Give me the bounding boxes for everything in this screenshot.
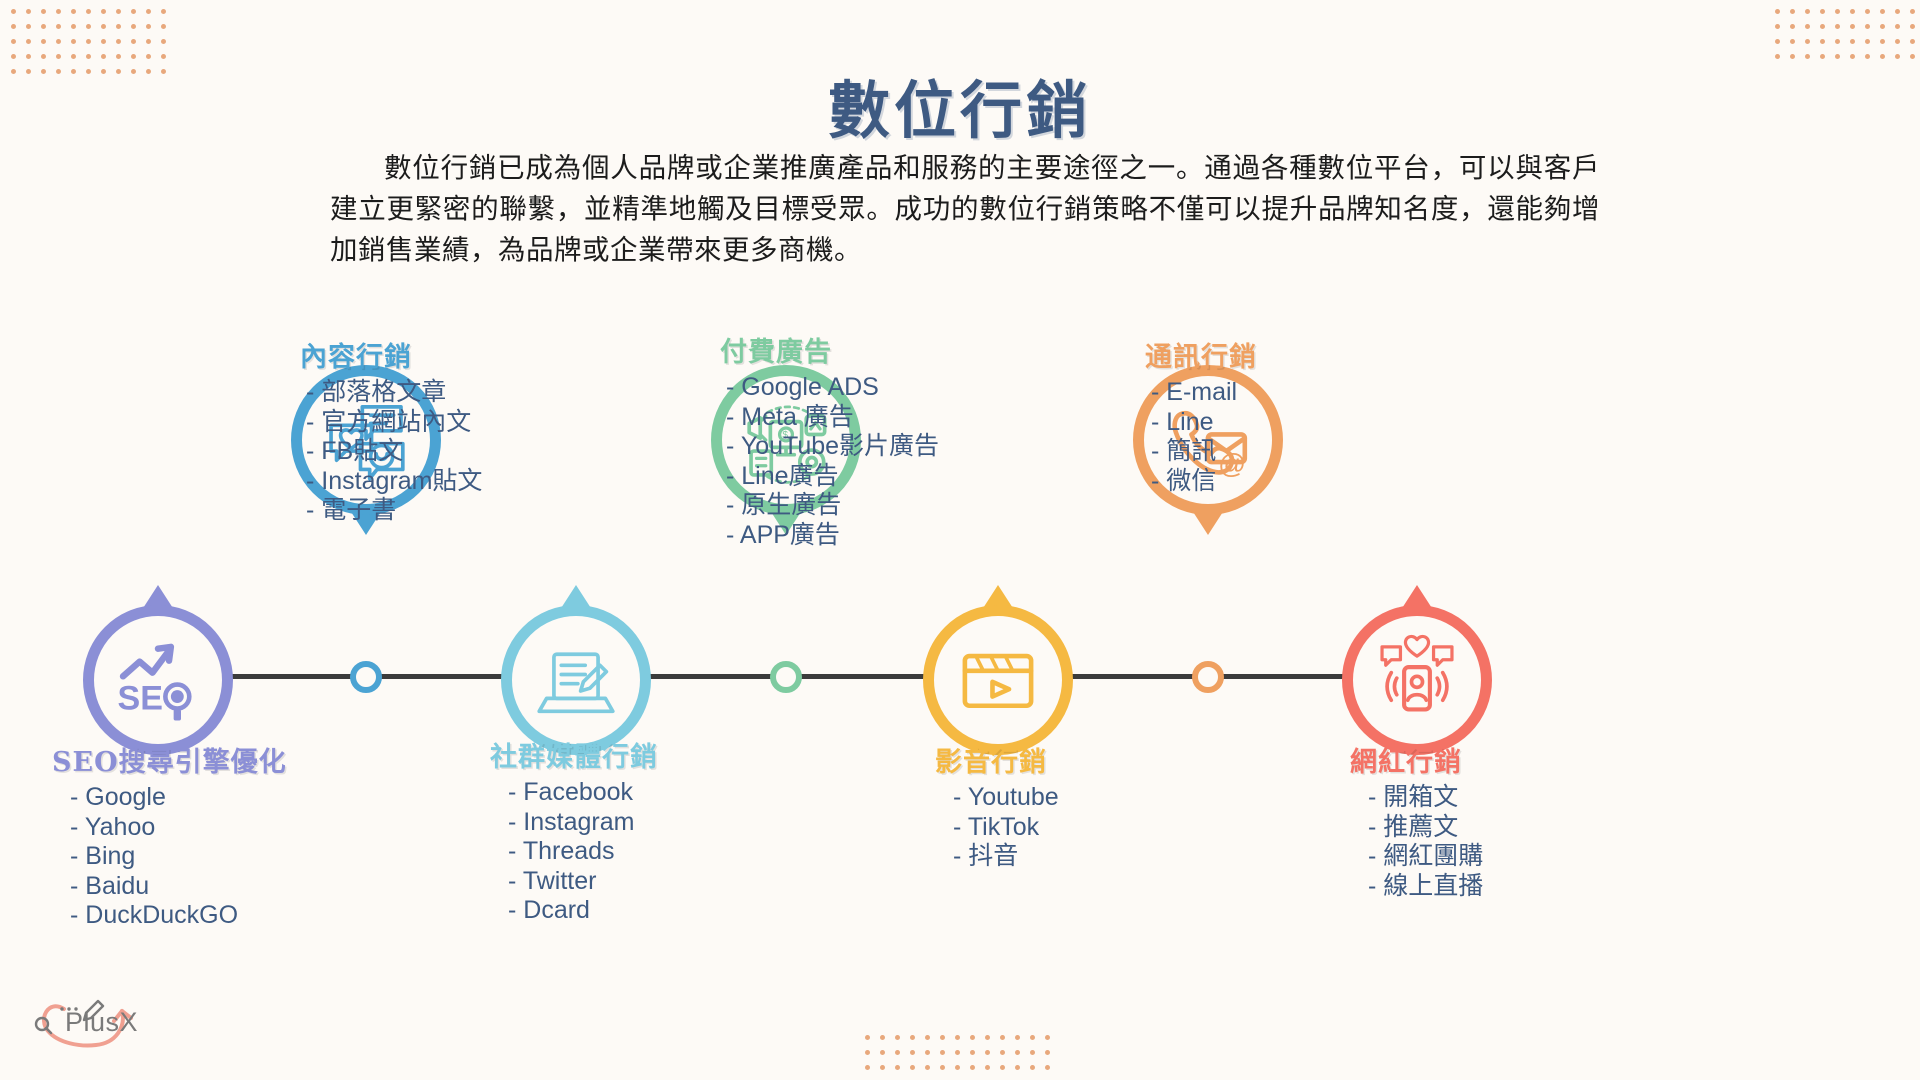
decorative-dot bbox=[1865, 39, 1870, 44]
decorative-dot bbox=[1850, 9, 1855, 14]
decorative-dot bbox=[1805, 39, 1810, 44]
decorative-dot bbox=[1865, 54, 1870, 59]
decorative-dot bbox=[116, 9, 121, 14]
decorative-dot bbox=[101, 54, 106, 59]
decorative-dot bbox=[955, 1065, 960, 1070]
decorative-dot bbox=[1775, 39, 1780, 44]
pin-seo[interactable]: SE bbox=[83, 605, 233, 755]
decorative-dot bbox=[970, 1050, 975, 1055]
video-player-icon bbox=[923, 605, 1073, 755]
list-item: - Youtube bbox=[953, 783, 1235, 813]
decorative-dot bbox=[26, 39, 31, 44]
decorative-dot bbox=[1015, 1050, 1020, 1055]
list-item: - Google ADS bbox=[726, 373, 1020, 403]
section-title-content-marketing: 內容行銷 bbox=[300, 335, 600, 374]
decorative-dot bbox=[1805, 24, 1810, 29]
decorative-dot bbox=[1045, 1050, 1050, 1055]
section-list-video-marketing: - Youtube- TikTok- 抖音 bbox=[935, 783, 1235, 872]
decorative-dot bbox=[985, 1050, 990, 1055]
decorative-dot bbox=[131, 9, 136, 14]
decorative-dot bbox=[1835, 54, 1840, 59]
timeline-node-paid-ads[interactable] bbox=[770, 661, 802, 693]
decorative-dot bbox=[895, 1065, 900, 1070]
decorative-dot bbox=[1910, 24, 1915, 29]
decorative-dot bbox=[131, 54, 136, 59]
decorative-dot bbox=[86, 24, 91, 29]
list-item: - Dcard bbox=[508, 896, 790, 926]
decorative-dot bbox=[41, 24, 46, 29]
list-item: - 簡訊 bbox=[1151, 437, 1445, 467]
decorative-dot bbox=[955, 1050, 960, 1055]
list-item: - Baidu bbox=[70, 872, 352, 902]
infographic-canvas: 數位行銷 數位行銷已成為個人品牌或企業推廣產品和服務的主要途徑之一。通過各種數位… bbox=[0, 0, 1920, 1080]
decorative-dot bbox=[56, 39, 61, 44]
section-list-seo: - Google- Yahoo- Bing- Baidu- DuckDuckGO bbox=[52, 783, 352, 931]
laptop-document-icon bbox=[501, 605, 651, 755]
decorative-dot bbox=[161, 9, 166, 14]
decorative-dot bbox=[71, 9, 76, 14]
decorative-dot bbox=[146, 39, 151, 44]
decorative-dot bbox=[11, 39, 16, 44]
decorative-dot bbox=[1850, 39, 1855, 44]
decorative-dot bbox=[146, 9, 151, 14]
decorative-dot bbox=[1820, 39, 1825, 44]
decorative-dot bbox=[1820, 9, 1825, 14]
decorative-dot bbox=[1910, 54, 1915, 59]
list-item: - Meta 廣告 bbox=[726, 403, 1020, 433]
decorative-dot bbox=[161, 54, 166, 59]
decorative-dot bbox=[26, 9, 31, 14]
list-item: - Instagram bbox=[508, 808, 790, 838]
decorative-dot bbox=[1895, 9, 1900, 14]
decorative-dot bbox=[71, 39, 76, 44]
decorative-dot bbox=[1805, 9, 1810, 14]
decorative-dot bbox=[1910, 39, 1915, 44]
decorative-dot bbox=[86, 39, 91, 44]
decorative-dot bbox=[940, 1050, 945, 1055]
decorative-dot bbox=[895, 1050, 900, 1055]
decorative-dot bbox=[880, 1050, 885, 1055]
pin-social-media-marketing[interactable] bbox=[501, 605, 651, 755]
decorative-dot bbox=[1775, 9, 1780, 14]
decorative-dot bbox=[56, 24, 61, 29]
decorative-dot bbox=[101, 9, 106, 14]
decorative-dot bbox=[1865, 9, 1870, 14]
decorative-dot bbox=[56, 54, 61, 59]
decorative-dot bbox=[11, 24, 16, 29]
pin-video-marketing[interactable] bbox=[923, 605, 1073, 755]
logo-text: PlusX bbox=[65, 1007, 138, 1038]
decorative-dot bbox=[985, 1035, 990, 1040]
decorative-dot bbox=[101, 24, 106, 29]
decorative-dot bbox=[985, 1065, 990, 1070]
decorative-dot bbox=[940, 1065, 945, 1070]
decorative-dot bbox=[1030, 1035, 1035, 1040]
decorative-dot bbox=[940, 1035, 945, 1040]
section-list-paid-ads: - Google ADS- Meta 廣告- YouTube影片廣告- Line… bbox=[720, 373, 1020, 550]
decorative-dot bbox=[1045, 1035, 1050, 1040]
decorative-dot bbox=[116, 54, 121, 59]
section-block-seo: SEO搜尋引擎優化- Google- Yahoo- Bing- Baidu- D… bbox=[52, 740, 352, 931]
decorative-dot bbox=[1790, 9, 1795, 14]
section-title-messaging-marketing: 通訊行銷 bbox=[1145, 335, 1445, 374]
list-item: - Instagram貼文 bbox=[306, 467, 600, 497]
list-item: - Line bbox=[1151, 408, 1445, 438]
list-item: - YouTube影片廣告 bbox=[726, 432, 1020, 462]
section-title-paid-ads: 付費廣告 bbox=[720, 330, 1020, 369]
decorative-dot bbox=[56, 9, 61, 14]
decorative-dot bbox=[161, 39, 166, 44]
section-block-social-media-marketing: 社群媒體行銷- Facebook- Instagram- Threads- Tw… bbox=[490, 735, 790, 926]
list-item: - FB貼文 bbox=[306, 437, 600, 467]
seo-trend-icon: SE bbox=[83, 605, 233, 755]
decorative-dot bbox=[1000, 1035, 1005, 1040]
section-block-content-marketing: 內容行銷- 部落格文章- 官方網站內文- FB貼文- Instagram貼文- … bbox=[300, 335, 600, 526]
decorative-dot bbox=[1895, 54, 1900, 59]
decorative-dot bbox=[1775, 54, 1780, 59]
section-block-video-marketing: 影音行銷- Youtube- TikTok- 抖音 bbox=[935, 740, 1235, 872]
decorative-dot bbox=[71, 24, 76, 29]
decorative-dot bbox=[865, 1035, 870, 1040]
decorative-dot bbox=[11, 54, 16, 59]
decorative-dot bbox=[1820, 54, 1825, 59]
decorative-dot bbox=[1790, 24, 1795, 29]
decorative-dot bbox=[1045, 1065, 1050, 1070]
decorative-dot bbox=[910, 1050, 915, 1055]
list-item: - 原生廣告 bbox=[726, 491, 1020, 521]
list-item: - Bing bbox=[70, 842, 352, 872]
decorative-dot bbox=[131, 24, 136, 29]
decorative-dot bbox=[1835, 9, 1840, 14]
list-item: - Threads bbox=[508, 837, 790, 867]
decorative-dot bbox=[41, 9, 46, 14]
decorative-dot bbox=[1835, 39, 1840, 44]
decorative-dot bbox=[880, 1065, 885, 1070]
section-title-influencer-marketing: 網紅行銷 bbox=[1350, 740, 1650, 779]
list-item: - 官方網站內文 bbox=[306, 408, 600, 438]
decorative-dot bbox=[161, 24, 166, 29]
list-item: - Yahoo bbox=[70, 813, 352, 843]
decorative-dot bbox=[41, 54, 46, 59]
section-block-paid-ads: 付費廣告- Google ADS- Meta 廣告- YouTube影片廣告- … bbox=[720, 330, 1020, 550]
decorative-dot bbox=[1895, 24, 1900, 29]
list-item: - 微信 bbox=[1151, 467, 1445, 497]
decorative-dot bbox=[86, 54, 91, 59]
decorative-dot bbox=[1895, 39, 1900, 44]
decorative-dot bbox=[925, 1050, 930, 1055]
section-list-content-marketing: - 部落格文章- 官方網站內文- FB貼文- Instagram貼文- 電子書 bbox=[300, 378, 600, 526]
decorative-dot bbox=[1880, 9, 1885, 14]
decorative-dot bbox=[1850, 54, 1855, 59]
decorative-dot bbox=[910, 1035, 915, 1040]
decorative-dot bbox=[1790, 39, 1795, 44]
list-item: - 開箱文 bbox=[1368, 783, 1650, 813]
decorative-dot bbox=[1835, 24, 1840, 29]
decorative-dot bbox=[1850, 24, 1855, 29]
list-item: - Line廣告 bbox=[726, 462, 1020, 492]
section-block-influencer-marketing: 網紅行銷- 開箱文- 推薦文- 網紅團購- 線上直播 bbox=[1350, 740, 1650, 901]
decorative-dot bbox=[101, 39, 106, 44]
section-list-influencer-marketing: - 開箱文- 推薦文- 網紅團購- 線上直播 bbox=[1350, 783, 1650, 901]
list-item: - Twitter bbox=[508, 867, 790, 897]
decorative-dot bbox=[1910, 9, 1915, 14]
section-list-social-media-marketing: - Facebook- Instagram- Threads- Twitter-… bbox=[490, 778, 790, 926]
section-title-seo: SEO搜尋引擎優化 bbox=[52, 740, 352, 779]
decorative-dot bbox=[865, 1050, 870, 1055]
page-title: 數位行銷 bbox=[0, 60, 1920, 150]
phone-live-icon bbox=[1342, 605, 1492, 755]
section-block-messaging-marketing: 通訊行銷- E-mail- Line- 簡訊- 微信 bbox=[1145, 335, 1445, 496]
decorative-dot bbox=[1000, 1050, 1005, 1055]
list-item: - Google bbox=[70, 783, 352, 813]
plusx-logo: PlusX bbox=[18, 985, 168, 1065]
list-item: - E-mail bbox=[1151, 378, 1445, 408]
decorative-dot bbox=[1805, 54, 1810, 59]
decorative-dot bbox=[146, 54, 151, 59]
decorative-dot bbox=[1880, 54, 1885, 59]
decorative-dot bbox=[86, 9, 91, 14]
decorative-dot bbox=[1865, 24, 1870, 29]
decorative-dot bbox=[1790, 54, 1795, 59]
decorative-dot bbox=[1820, 24, 1825, 29]
decorative-dot bbox=[1015, 1035, 1020, 1040]
decorative-dot bbox=[970, 1065, 975, 1070]
decorative-dots-top-right bbox=[1770, 4, 1920, 64]
timeline-node-content-marketing[interactable] bbox=[350, 661, 382, 693]
pin-influencer-marketing[interactable] bbox=[1342, 605, 1492, 755]
decorative-dot bbox=[1775, 24, 1780, 29]
decorative-dot bbox=[1000, 1065, 1005, 1070]
decorative-dot bbox=[11, 9, 16, 14]
decorative-dot bbox=[116, 39, 121, 44]
decorative-dot bbox=[71, 54, 76, 59]
decorative-dot bbox=[925, 1065, 930, 1070]
list-item: - APP廣告 bbox=[726, 521, 1020, 551]
decorative-dot bbox=[131, 39, 136, 44]
section-list-messaging-marketing: - E-mail- Line- 簡訊- 微信 bbox=[1145, 378, 1445, 496]
list-item: - Facebook bbox=[508, 778, 790, 808]
decorative-dot bbox=[955, 1035, 960, 1040]
decorative-dots-bottom-center bbox=[860, 1030, 1055, 1080]
section-title-video-marketing: 影音行銷 bbox=[935, 740, 1235, 779]
list-item: - 推薦文 bbox=[1368, 813, 1650, 843]
decorative-dot bbox=[116, 24, 121, 29]
decorative-dot bbox=[1880, 24, 1885, 29]
list-item: - 網紅團購 bbox=[1368, 842, 1650, 872]
decorative-dot bbox=[26, 24, 31, 29]
decorative-dot bbox=[865, 1065, 870, 1070]
list-item: - 電子書 bbox=[306, 496, 600, 526]
decorative-dot bbox=[925, 1035, 930, 1040]
decorative-dot bbox=[1015, 1065, 1020, 1070]
decorative-dot bbox=[1030, 1065, 1035, 1070]
timeline-node-messaging-marketing[interactable] bbox=[1192, 661, 1224, 693]
intro-paragraph: 數位行銷已成為個人品牌或企業推廣產品和服務的主要途徑之一。通過各種數位平台，可以… bbox=[330, 148, 1600, 271]
svg-text:SE: SE bbox=[118, 679, 163, 717]
section-title-social-media-marketing: 社群媒體行銷 bbox=[490, 735, 790, 774]
decorative-dot bbox=[910, 1065, 915, 1070]
decorative-dot bbox=[1030, 1050, 1035, 1055]
list-item: - 線上直播 bbox=[1368, 872, 1650, 902]
decorative-dot bbox=[895, 1035, 900, 1040]
decorative-dot bbox=[146, 24, 151, 29]
list-item: - 部落格文章 bbox=[306, 378, 600, 408]
list-item: - 抖音 bbox=[953, 842, 1235, 872]
decorative-dot bbox=[41, 39, 46, 44]
decorative-dot bbox=[26, 54, 31, 59]
list-item: - DuckDuckGO bbox=[70, 901, 352, 931]
decorative-dot bbox=[880, 1035, 885, 1040]
list-item: - TikTok bbox=[953, 813, 1235, 843]
decorative-dot bbox=[1880, 39, 1885, 44]
decorative-dot bbox=[970, 1035, 975, 1040]
